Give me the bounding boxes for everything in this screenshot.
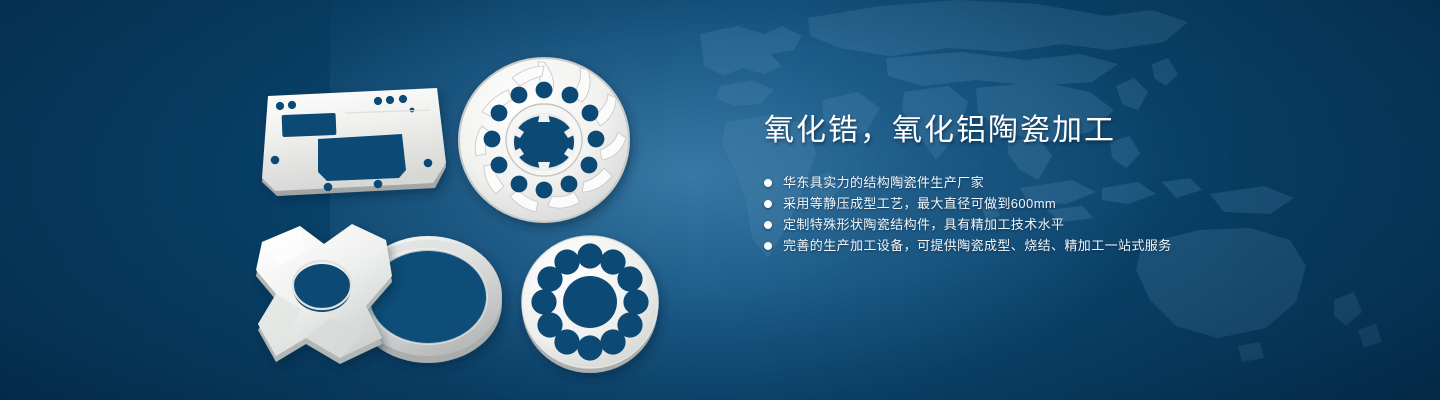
feature-list: 华东具实力的结构陶瓷件生产厂家 采用等静压成型工艺，最大直径可做到600mm 定… bbox=[764, 172, 1384, 256]
ceramic-impeller-disc bbox=[459, 58, 629, 222]
hero-banner: 氧化锆，氧化铝陶瓷加工 华东具实力的结构陶瓷件生产厂家 采用等静压成型工艺，最大… bbox=[0, 0, 1440, 400]
list-item-label: 华东具实力的结构陶瓷件生产厂家 bbox=[783, 172, 984, 193]
ceramic-products-image bbox=[0, 0, 720, 400]
list-item-label: 完善的生产加工设备，可提供陶瓷成型、烧结、精加工一站式服务 bbox=[783, 235, 1172, 256]
bullet-dot-icon bbox=[764, 242, 772, 250]
ceramic-cross-plate bbox=[256, 224, 392, 364]
list-item-label: 采用等静压成型工艺，最大直径可做到600mm bbox=[783, 193, 1056, 214]
list-item: 定制特殊形状陶瓷结构件，具有精加工技术水平 bbox=[764, 214, 1384, 235]
bullet-dot-icon bbox=[764, 200, 772, 208]
list-item: 完善的生产加工设备，可提供陶瓷成型、烧结、精加工一站式服务 bbox=[764, 235, 1384, 256]
ceramic-mounting-plate bbox=[262, 88, 446, 196]
list-item: 华东具实力的结构陶瓷件生产厂家 bbox=[764, 172, 1384, 193]
list-item: 采用等静压成型工艺，最大直径可做到600mm bbox=[764, 193, 1384, 214]
list-item-label: 定制特殊形状陶瓷结构件，具有精加工技术水平 bbox=[783, 214, 1064, 235]
banner-copy: 氧化锆，氧化铝陶瓷加工 华东具实力的结构陶瓷件生产厂家 采用等静压成型工艺，最大… bbox=[764, 112, 1384, 256]
bullet-dot-icon bbox=[764, 179, 772, 187]
bullet-dot-icon bbox=[764, 221, 772, 229]
page-title: 氧化锆，氧化铝陶瓷加工 bbox=[764, 112, 1384, 150]
ceramic-perforated-ring bbox=[522, 236, 658, 373]
